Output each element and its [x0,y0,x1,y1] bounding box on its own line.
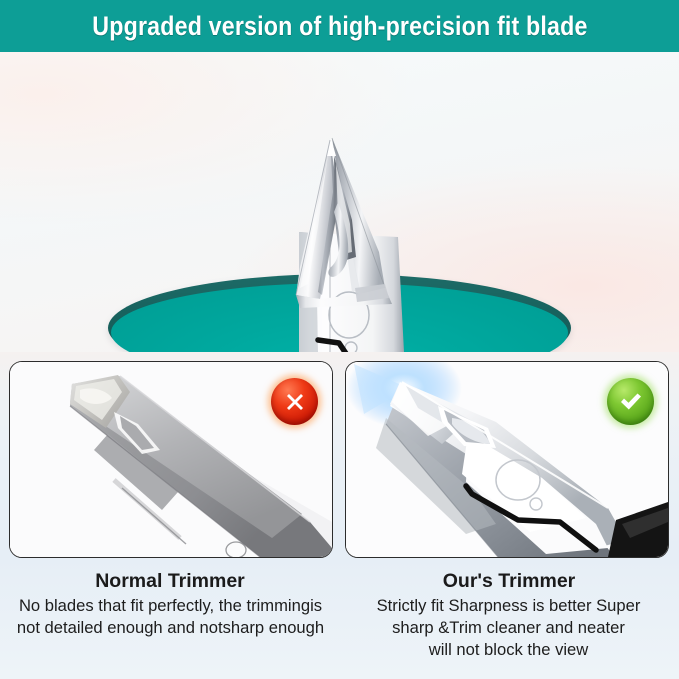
caption-body-ours: Strictly fit Sharpness is better Super s… [336,595,679,661]
caption-title-ours: Our's Trimmer [339,570,679,593]
red-x-badge [271,378,318,425]
caption-title-normal: Normal Trimmer [0,570,340,593]
panel-our-trimmer[interactable] [345,361,669,558]
hero-trimmer-illustration [0,52,679,352]
header-banner: Upgraded version of high-precision fit b… [0,0,679,52]
green-check-badge [607,378,654,425]
hero-section [0,52,679,352]
banner-title: Upgraded version of high-precision fit b… [92,11,587,42]
panel-normal-trimmer[interactable] [9,361,333,558]
product-infographic: Upgraded version of high-precision fit b… [0,0,679,679]
caption-body-normal: No blades that fit perfectly, the trimmi… [0,595,343,639]
comparison-section: Normal Trimmer No blades that fit perfec… [0,352,679,679]
